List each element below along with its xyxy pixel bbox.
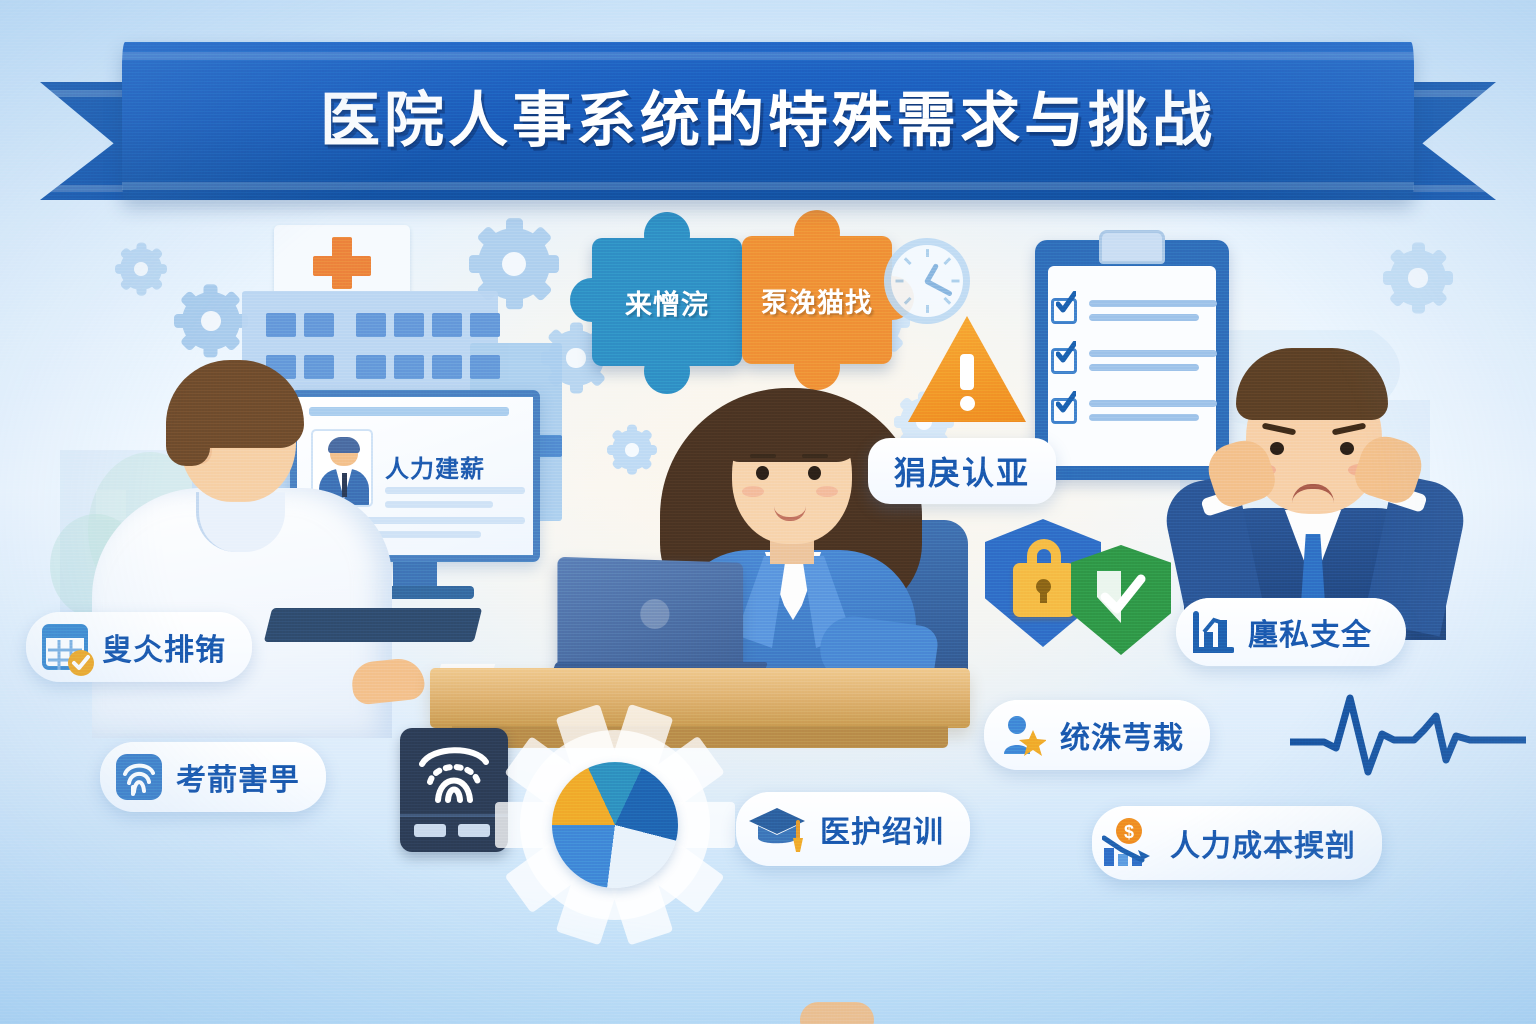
money-down-icon: $ xyxy=(1102,818,1156,868)
check-icon xyxy=(1056,341,1076,367)
puzzle-left-label: 来憎浣 xyxy=(625,283,709,322)
label-attendance-text: 考葥害甼 xyxy=(176,755,300,799)
label-scheduling[interactable]: 叟仌排铕 xyxy=(26,612,252,682)
label-scheduling-text: 叟仌排铕 xyxy=(102,625,226,669)
label-performance[interactable]: 统洙芎栽 xyxy=(984,700,1210,770)
bar-chart-icon xyxy=(1192,610,1234,654)
label-training-text: 医护绍训 xyxy=(820,807,944,851)
fingerprint-icon xyxy=(116,754,162,800)
puzzle-piece-right: 泵浼猫找 xyxy=(742,236,892,364)
hospital-sign xyxy=(274,225,410,301)
label-performance-text: 统洙芎栽 xyxy=(1060,713,1184,757)
label-qualification[interactable]: 狷戾认亚 xyxy=(868,438,1056,504)
officer-hand xyxy=(800,1002,874,1024)
check-icon xyxy=(1056,391,1076,417)
doctor-hair-side xyxy=(166,404,210,466)
desk-top xyxy=(430,668,970,728)
graduation-cap-icon xyxy=(748,804,806,854)
person-star-icon xyxy=(1000,712,1046,758)
laptop-logo xyxy=(640,599,669,629)
title-banner: 医院人事系统的特殊需求与挑战 xyxy=(40,42,1496,210)
clipboard-clip-icon xyxy=(1099,230,1165,264)
manager-hair xyxy=(1236,348,1388,420)
label-attendance[interactable]: 考葥害甼 xyxy=(100,742,326,812)
puzzle-piece-left: 来憎浣 xyxy=(592,238,742,366)
stressed-manager-character xyxy=(1150,330,1480,630)
shield-check-icon xyxy=(1089,567,1153,627)
fingerprint-scanner-device xyxy=(400,728,508,852)
svg-text:$: $ xyxy=(1124,822,1134,842)
infographic-poster: 人力建薪 来憎浣 泵浼猫找 xyxy=(0,0,1536,1024)
label-qualification-text: 狷戾认亚 xyxy=(894,455,1030,491)
pie-chart xyxy=(552,762,678,888)
puzzle-right-label: 泵浼猫找 xyxy=(761,281,873,320)
clock-icon xyxy=(884,238,970,324)
checklist-row xyxy=(1051,296,1217,330)
medical-cross-icon xyxy=(313,256,371,276)
gear-decoration xyxy=(120,248,162,290)
calendar-check-icon xyxy=(42,624,88,670)
check-icon xyxy=(1056,291,1076,317)
ecg-heartbeat-icon xyxy=(1290,690,1526,776)
page-title: 医院人事系统的特殊需求与挑战 xyxy=(40,72,1496,159)
gear-decoration xyxy=(1390,250,1446,306)
label-training[interactable]: 医护绍训 xyxy=(736,792,970,866)
security-icons-group xyxy=(985,515,1185,665)
pie-chart-on-gear xyxy=(520,730,710,920)
officer-hair-front xyxy=(724,392,862,462)
label-cost-control[interactable]: $ 人力成本捑剖 xyxy=(1092,806,1382,880)
keyboard xyxy=(264,608,482,642)
label-privacy[interactable]: 廛私支全 xyxy=(1176,598,1406,666)
label-privacy-text: 廛私支全 xyxy=(1248,610,1372,654)
label-cost-control-text: 人力成本捑剖 xyxy=(1170,821,1356,865)
fingerprint-icon xyxy=(418,742,490,804)
